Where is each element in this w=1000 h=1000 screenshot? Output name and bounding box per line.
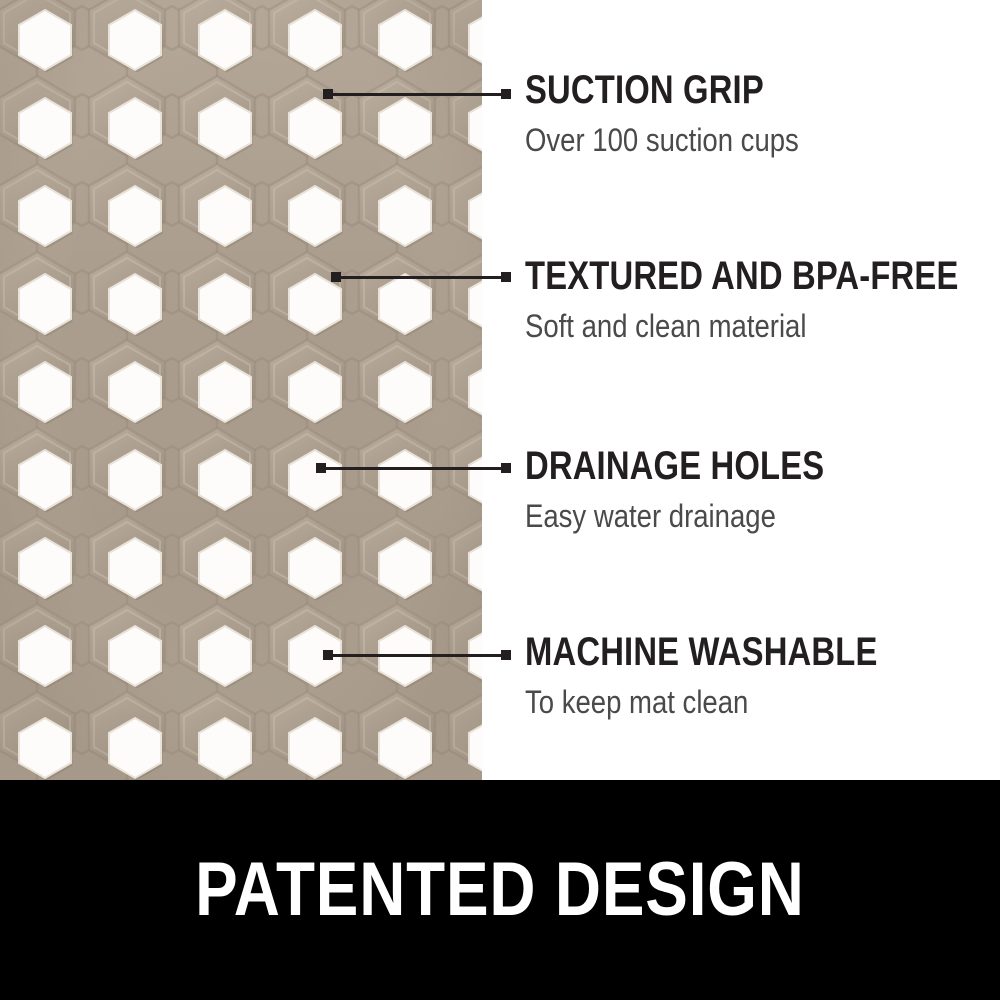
banner-headline: PATENTED DESIGN bbox=[195, 852, 805, 928]
leader-line-machine-washable bbox=[323, 650, 511, 660]
leader-rule bbox=[327, 654, 507, 657]
callout-subtitle: Soft and clean material bbox=[525, 310, 921, 342]
callout-machine-washable: MACHINE WASHABLE To keep mat clean bbox=[525, 632, 985, 718]
leader-rule bbox=[335, 276, 507, 279]
callout-title: SUCTION GRIP bbox=[525, 70, 902, 110]
leader-line-textured-bpa-free bbox=[331, 272, 511, 282]
callout-title: DRAINAGE HOLES bbox=[525, 446, 902, 486]
leader-end-node bbox=[501, 272, 511, 282]
bottom-banner: PATENTED DESIGN bbox=[0, 780, 1000, 1000]
callout-suction-grip: SUCTION GRIP Over 100 suction cups bbox=[525, 70, 985, 156]
leader-rule bbox=[327, 93, 507, 96]
callout-title: MACHINE WASHABLE bbox=[525, 632, 902, 672]
callout-subtitle: Easy water drainage bbox=[525, 500, 921, 532]
product-photo-panel bbox=[0, 0, 482, 780]
callout-textured-bpa-free: TEXTURED AND BPA-FREE Soft and clean mat… bbox=[525, 256, 985, 342]
leader-end-node bbox=[501, 650, 511, 660]
callout-drainage-holes: DRAINAGE HOLES Easy water drainage bbox=[525, 446, 985, 532]
leader-end-node bbox=[501, 89, 511, 99]
leader-line-drainage-holes bbox=[316, 463, 511, 473]
callout-title: TEXTURED AND BPA-FREE bbox=[525, 256, 902, 296]
leader-line-suction-grip bbox=[323, 89, 511, 99]
leader-end-node bbox=[501, 463, 511, 473]
leader-rule bbox=[320, 467, 507, 470]
callout-subtitle: Over 100 suction cups bbox=[525, 124, 921, 156]
callout-subtitle: To keep mat clean bbox=[525, 686, 921, 718]
product-infographic: SUCTION GRIP Over 100 suction cups TEXTU… bbox=[0, 0, 1000, 1000]
honeycomb-mat-image bbox=[0, 0, 482, 780]
